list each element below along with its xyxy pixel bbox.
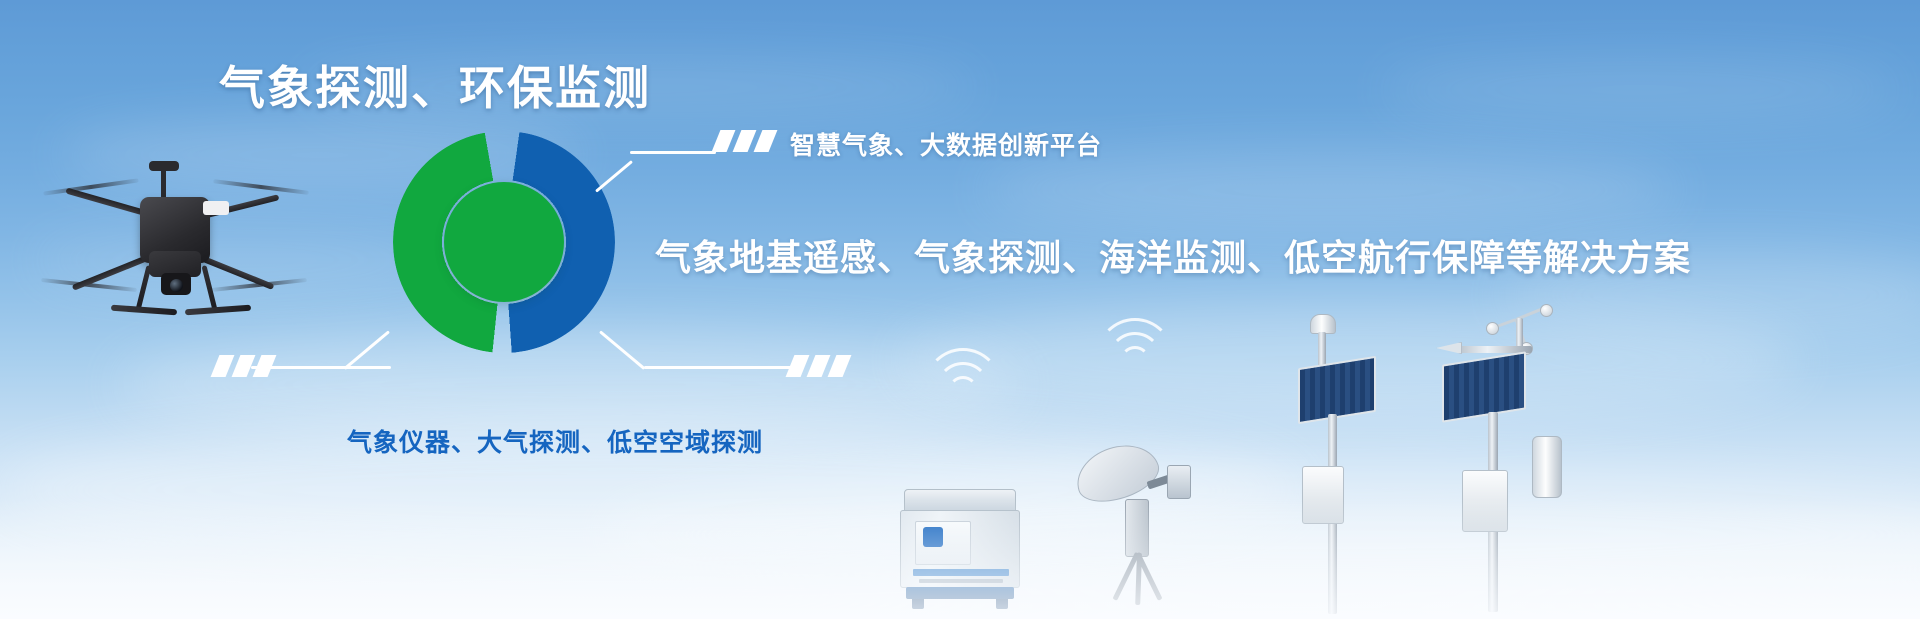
solar-panel bbox=[1442, 351, 1526, 422]
signal-arc bbox=[1096, 318, 1174, 396]
uav-drone-icon bbox=[45, 155, 310, 345]
chevron-bar bbox=[733, 130, 757, 152]
connector-diagonal bbox=[599, 330, 645, 370]
connector-bottom-right bbox=[600, 318, 920, 388]
ring-center-disc bbox=[444, 182, 564, 302]
callout-text-bottom: 气象仪器、大气探测、低空空域探测 bbox=[347, 423, 763, 459]
callout-text-top: 智慧气象、大数据创新平台 bbox=[790, 126, 1102, 162]
anemometer-cup bbox=[1540, 304, 1553, 317]
signal-waves-cabinet bbox=[918, 336, 1008, 396]
chevron-bar bbox=[786, 355, 810, 377]
callout-text-main: 气象地基遥感、气象探测、海洋监测、低空航行保障等解决方案 bbox=[655, 229, 1691, 281]
connector-bottom-left bbox=[216, 318, 446, 388]
sensor-mast bbox=[1318, 332, 1326, 368]
chevron-bar bbox=[211, 355, 235, 377]
cloud-wisp bbox=[1380, 60, 1900, 120]
signal-arc bbox=[924, 348, 1002, 426]
banner-title: 气象探测、环保监测 bbox=[219, 52, 651, 118]
chevron-marker-bottom-left bbox=[215, 355, 272, 377]
chevron-bar bbox=[712, 130, 736, 152]
chevron-bar bbox=[232, 355, 256, 377]
drone-landing-leg bbox=[136, 265, 152, 311]
drone-landing-skid bbox=[185, 305, 251, 316]
drone-camera-lens bbox=[170, 279, 183, 292]
drone-sensor-pod bbox=[203, 201, 229, 215]
drone-antenna-head bbox=[149, 161, 179, 171]
wind-vane bbox=[1436, 342, 1462, 354]
connector-horizontal bbox=[630, 151, 716, 154]
drone-arm bbox=[65, 188, 145, 216]
anemometer-cup bbox=[1486, 322, 1499, 335]
chevron-bar bbox=[807, 355, 831, 377]
drone-propeller bbox=[43, 178, 139, 195]
chevron-marker-bottom-right bbox=[790, 355, 847, 377]
rain-gauge-sensor bbox=[1532, 436, 1562, 498]
ground-haze-overlay bbox=[0, 499, 1920, 619]
drone-landing-skid bbox=[111, 305, 177, 316]
drone-propeller bbox=[213, 179, 309, 195]
solar-panel bbox=[1298, 356, 1376, 424]
connector-diagonal bbox=[344, 330, 390, 370]
weather-monitoring-banner: 气象探测、环保监测 智慧气象、大数据创新平台 气象地基遥感、气象探测、海洋监测、… bbox=[0, 0, 1920, 619]
connector-horizontal bbox=[251, 366, 391, 369]
drone-antenna-mast bbox=[161, 167, 166, 199]
radiation-shield-sensor bbox=[1310, 314, 1336, 334]
connector-diagonal bbox=[595, 160, 633, 193]
chevron-marker-top bbox=[716, 130, 773, 152]
signal-waves-dish bbox=[1090, 306, 1180, 366]
connector-horizontal bbox=[644, 366, 794, 369]
dish-receiver-box bbox=[1167, 465, 1191, 499]
cloud-wisp bbox=[980, 150, 1680, 230]
